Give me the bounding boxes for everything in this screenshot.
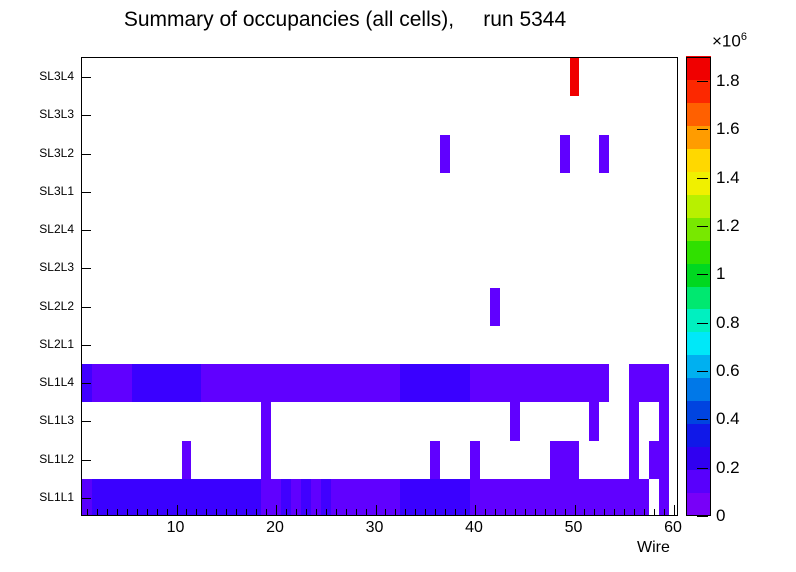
palette-band	[686, 492, 711, 516]
heatmap-cell	[629, 402, 639, 440]
x-axis-tick	[147, 509, 148, 515]
y-axis-label-sl3l1: SL3L1	[14, 184, 74, 198]
palette-band	[686, 217, 711, 241]
y-axis-tick	[82, 268, 91, 269]
x-axis-tick	[624, 509, 625, 515]
x-axis-tick	[485, 509, 486, 515]
x-axis-tick	[674, 505, 675, 515]
x-axis-tick	[575, 505, 576, 515]
x-axis-tick	[644, 509, 645, 515]
x-axis-tick	[515, 509, 516, 515]
root-canvas: Summary of occupancies (all cells), run …	[0, 0, 796, 572]
y-axis-label-sl3l4: SL3L4	[14, 69, 74, 83]
heatmap-cell	[629, 441, 639, 479]
x-axis-tick	[336, 509, 337, 515]
palette-tick-label: 1.2	[716, 216, 740, 236]
palette-tick	[697, 516, 708, 517]
plot-frame	[81, 57, 678, 516]
palette-tick	[697, 226, 708, 227]
x-axis-tick	[97, 509, 98, 515]
y-axis-tick	[82, 307, 91, 308]
y-axis-tick	[82, 421, 91, 422]
heatmap-cells	[82, 58, 677, 515]
x-axis-tick	[614, 509, 615, 515]
palette-band	[686, 447, 711, 471]
palette-tick-label: 0.4	[716, 409, 740, 429]
x-axis-tick	[505, 509, 506, 515]
y-axis-tick	[82, 345, 91, 346]
palette-tick	[697, 178, 708, 179]
y-axis-label-sl1l4: SL1L4	[14, 375, 74, 389]
heatmap-cell	[599, 135, 609, 173]
x-axis-tick	[495, 509, 496, 515]
palette-tick	[697, 81, 708, 82]
x-axis-tick	[316, 509, 317, 515]
x-axis-tick	[356, 509, 357, 515]
heatmap-cell	[400, 364, 470, 402]
x-axis-tick	[435, 509, 436, 515]
palette-tick	[697, 129, 708, 130]
y-axis-label-sl2l1: SL2L1	[14, 337, 74, 351]
x-axis-tick	[565, 509, 566, 515]
heatmap-cell	[490, 288, 500, 326]
x-axis-tick	[127, 509, 128, 515]
heatmap-cell	[510, 402, 520, 440]
palette-tick	[697, 419, 708, 420]
y-axis-label-sl1l3: SL1L3	[14, 413, 74, 427]
x-axis-tick	[206, 509, 207, 515]
palette-tick-label: 0.6	[716, 361, 740, 381]
x-axis-tick-label: 10	[167, 519, 185, 537]
y-axis-label-sl3l3: SL3L3	[14, 107, 74, 121]
x-axis-tick	[177, 505, 178, 515]
x-axis-tick	[425, 509, 426, 515]
x-axis-tick	[584, 509, 585, 515]
heatmap-cell	[560, 135, 570, 173]
x-axis-tick	[395, 509, 396, 515]
palette-band	[686, 355, 711, 379]
x-axis-tick	[535, 509, 536, 515]
heatmap-cell	[589, 402, 599, 440]
y-axis-label-sl2l3: SL2L3	[14, 260, 74, 274]
palette-exponent-power: 6	[741, 31, 747, 43]
x-axis-title: Wire	[637, 539, 670, 557]
x-axis-tick	[296, 509, 297, 515]
x-axis-tick	[654, 509, 655, 515]
x-axis-tick	[405, 509, 406, 515]
palette-band	[686, 171, 711, 195]
palette-tick-label: 0.2	[716, 458, 740, 478]
heatmap-cell	[570, 58, 580, 96]
palette-tick-label: 1	[716, 264, 725, 284]
palette-band	[686, 240, 711, 264]
x-axis-tick-label: 20	[266, 519, 284, 537]
x-axis-tick	[137, 509, 138, 515]
x-axis-tick	[475, 505, 476, 515]
x-axis-tick	[415, 509, 416, 515]
x-axis-tick-label: 30	[366, 519, 384, 537]
x-axis-tick	[634, 509, 635, 515]
x-axis-tick	[346, 509, 347, 515]
palette-band	[686, 309, 711, 333]
x-axis-tick	[286, 509, 287, 515]
y-axis-tick	[82, 77, 91, 78]
palette-band	[686, 102, 711, 126]
palette-tick-label: 1.8	[716, 71, 740, 91]
palette-tick-label: 0.8	[716, 313, 740, 333]
palette-band	[686, 378, 711, 402]
page-title: Summary of occupancies (all cells), run …	[0, 8, 690, 32]
palette-band	[686, 332, 711, 356]
x-axis-tick	[226, 509, 227, 515]
x-axis-tick	[376, 505, 377, 515]
y-axis-tick	[82, 498, 91, 499]
heatmap-cell	[470, 364, 609, 402]
y-axis-label-sl3l2: SL3L2	[14, 146, 74, 160]
y-axis-label-sl1l2: SL1L2	[14, 452, 74, 466]
palette-tick-label: 1.6	[716, 119, 740, 139]
heatmap-cell	[659, 402, 669, 440]
x-axis-tick-label: 50	[565, 519, 583, 537]
y-axis-tick	[82, 230, 91, 231]
palette-tick	[697, 468, 708, 469]
palette-tick	[697, 274, 708, 275]
y-axis-tick	[82, 192, 91, 193]
palette-band	[686, 194, 711, 218]
x-axis-tick	[366, 509, 367, 515]
palette-tick-label: 1.4	[716, 168, 740, 188]
heatmap-cell	[430, 441, 440, 479]
heatmap-cell	[629, 364, 669, 402]
x-axis-tick	[445, 509, 446, 515]
x-axis-tick	[555, 509, 556, 515]
heatmap-cell	[261, 441, 271, 479]
x-axis-tick	[87, 509, 88, 515]
x-axis-tick	[594, 509, 595, 515]
x-axis-tick	[246, 509, 247, 515]
heatmap-cell	[182, 441, 192, 479]
heatmap-cell	[470, 479, 649, 515]
palette-exponent-base: ×10	[712, 32, 741, 51]
palette-band	[686, 148, 711, 172]
y-axis-tick	[82, 383, 91, 384]
y-axis-tick	[82, 460, 91, 461]
color-palette	[686, 57, 711, 516]
x-axis-tick	[107, 509, 108, 515]
x-axis-tick	[167, 509, 168, 515]
heatmap-cell	[261, 479, 281, 515]
x-axis-tick	[455, 509, 456, 515]
palette-band	[686, 401, 711, 425]
x-axis-tick	[664, 509, 665, 515]
x-axis-tick	[326, 509, 327, 515]
x-axis-tick	[196, 509, 197, 515]
x-axis-tick	[236, 509, 237, 515]
palette-band	[686, 56, 711, 80]
heatmap-cell	[440, 135, 450, 173]
palette-band	[686, 286, 711, 310]
palette-exponent: ×106	[712, 31, 747, 52]
x-axis-tick	[186, 509, 187, 515]
x-axis-tick	[306, 509, 307, 515]
x-axis-tick	[604, 509, 605, 515]
x-axis-tick	[385, 509, 386, 515]
heatmap-cell	[132, 364, 202, 402]
x-axis-tick-label: 40	[465, 519, 483, 537]
palette-band	[686, 424, 711, 448]
y-axis-tick	[82, 154, 91, 155]
heatmap-cell	[201, 364, 400, 402]
palette-tick	[697, 323, 708, 324]
heatmap-cell	[261, 402, 271, 440]
heatmap-cell	[92, 364, 132, 402]
palette-tick	[697, 371, 708, 372]
x-axis-tick	[465, 509, 466, 515]
x-axis-tick	[157, 509, 158, 515]
heatmap-cell	[550, 441, 580, 479]
palette-band	[686, 79, 711, 103]
x-axis-tick	[117, 509, 118, 515]
x-axis-tick	[216, 509, 217, 515]
y-axis-tick	[82, 115, 91, 116]
x-axis-tick	[266, 509, 267, 515]
palette-band	[686, 470, 711, 494]
y-axis-label-sl2l4: SL2L4	[14, 222, 74, 236]
x-axis-tick	[525, 509, 526, 515]
x-axis-tick	[276, 505, 277, 515]
x-axis-tick	[545, 509, 546, 515]
heatmap-cell	[649, 441, 669, 479]
x-axis-tick-label: 60	[664, 519, 682, 537]
x-axis-tick	[256, 509, 257, 515]
heatmap-cell	[470, 441, 480, 479]
palette-tick-label: 0	[716, 506, 725, 526]
y-axis-label-sl2l2: SL2L2	[14, 299, 74, 313]
y-axis-label-sl1l1: SL1L1	[14, 490, 74, 504]
